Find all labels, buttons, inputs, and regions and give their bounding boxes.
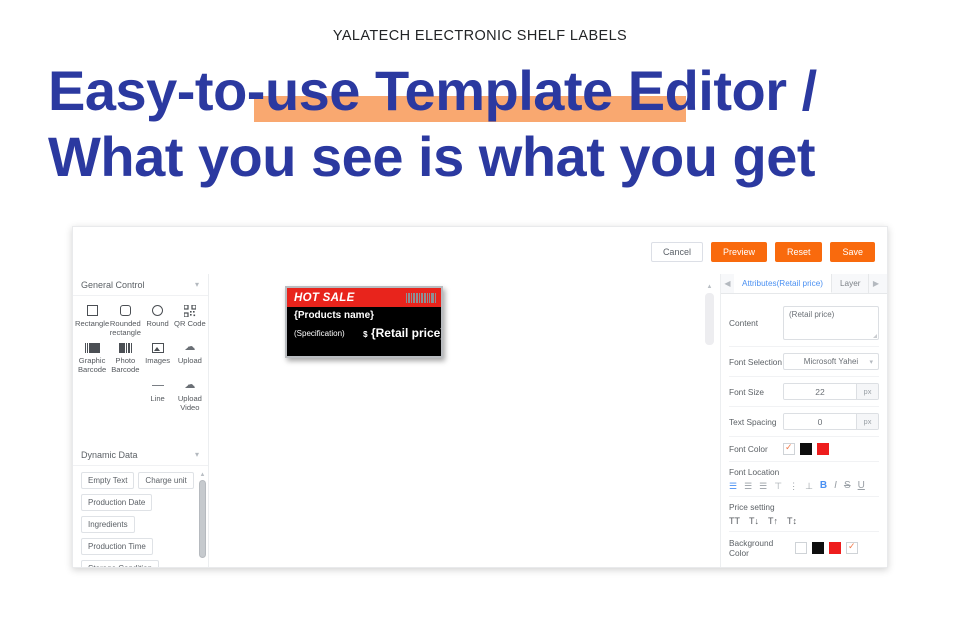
tab-attributes[interactable]: Attributes(Retail price) xyxy=(734,274,832,293)
scrollbar-thumb[interactable] xyxy=(199,480,206,558)
headline-line-1: Easy-to-use Template Editor / xyxy=(48,58,918,124)
strikethrough-icon[interactable]: S xyxy=(844,481,851,491)
attributes-tab-bar: ◀ Attributes(Retail price) Layer ▶ xyxy=(721,274,887,294)
price-setting-toolbar: TT T↓ T↑ T↕ xyxy=(729,516,879,526)
currency-symbol: $ xyxy=(363,330,367,339)
background-color-swatch-white[interactable] xyxy=(795,542,807,554)
background-color-swatch-selected[interactable] xyxy=(846,542,858,554)
scroll-up-icon[interactable]: ▲ xyxy=(199,472,206,478)
dynamic-data-scrollbar[interactable]: ▲ xyxy=(199,472,206,561)
tool-qr-code[interactable]: QR Code xyxy=(174,303,206,337)
text-spacing-label: Text Spacing xyxy=(729,417,783,427)
tool-upload-video[interactable]: ☁ Upload Video xyxy=(174,378,206,412)
reset-button[interactable]: Reset xyxy=(775,242,823,262)
general-control-header[interactable]: General Control ▾ xyxy=(73,274,208,296)
round-icon xyxy=(152,303,163,318)
cancel-button[interactable]: Cancel xyxy=(651,242,703,262)
bold-icon[interactable]: B xyxy=(820,481,827,491)
chip-production-date[interactable]: Production Date xyxy=(81,494,152,511)
scroll-up-icon[interactable]: ▲ xyxy=(705,284,714,291)
font-size-input[interactable]: 22 px xyxy=(783,383,879,400)
template-editor-app: Cancel Preview Reset Save General Contro… xyxy=(72,226,888,568)
chip-production-time[interactable]: Production Time xyxy=(81,538,153,555)
chevron-right-icon[interactable]: ▶ xyxy=(869,274,882,293)
font-selection-label: Font Selection xyxy=(729,357,783,367)
slide-eyebrow: YALATECH ELECTRONIC SHELF LABELS xyxy=(0,28,960,44)
background-color-label: Background Color xyxy=(729,538,795,558)
italic-icon[interactable]: I xyxy=(834,481,837,491)
label-specification[interactable]: (Specification) xyxy=(294,329,345,338)
label-banner: HOT SALE xyxy=(287,288,441,307)
tool-rounded-rectangle[interactable]: Rounded rectangle xyxy=(109,303,141,337)
dynamic-data-header[interactable]: Dynamic Data ▾ xyxy=(73,444,208,466)
font-selection-dropdown[interactable]: Microsoft Yahei ▾ xyxy=(783,353,879,370)
toolbar-button-group: Cancel Preview Reset Save xyxy=(651,242,875,262)
label-retail-price[interactable]: $ {Retail price} xyxy=(363,326,443,340)
font-size-label: Font Size xyxy=(729,387,783,397)
tool-images[interactable]: Images xyxy=(141,340,173,374)
price-field-text: {Retail price} xyxy=(371,326,443,340)
font-selection-value: Microsoft Yahei xyxy=(804,357,858,366)
images-icon xyxy=(152,340,164,355)
headline-line-2: What you see is what you get xyxy=(48,124,918,190)
price-style-tt-icon[interactable]: TT xyxy=(729,516,740,526)
chip-storage-condition[interactable]: Storage Condition xyxy=(81,560,159,567)
left-tools-panel: General Control ▾ Rectangle Rounded rect… xyxy=(73,274,209,567)
barcode-icon xyxy=(406,293,436,303)
content-label: Content xyxy=(729,318,783,328)
dynamic-data-section: Dynamic Data ▾ Empty Text Charge unit Pr… xyxy=(73,444,208,567)
label-preview[interactable]: HOT SALE {Products name} (Specification)… xyxy=(285,286,443,358)
banner-text: HOT SALE xyxy=(294,292,355,304)
upload-icon: ☁ xyxy=(184,340,195,355)
price-style-subscript-icon[interactable]: T↓ xyxy=(749,516,759,526)
dynamic-data-title: Dynamic Data xyxy=(81,450,138,460)
preview-button[interactable]: Preview xyxy=(711,242,767,262)
dynamic-data-chip-list: Empty Text Charge unit Production Date I… xyxy=(73,466,208,567)
label-canvas[interactable]: HOT SALE {Products name} (Specification)… xyxy=(209,274,721,567)
content-textarea[interactable]: (Retail price) xyxy=(783,306,879,340)
text-spacing-row: Text Spacing 0 px xyxy=(729,407,879,437)
text-spacing-unit: px xyxy=(856,414,878,429)
align-right-icon[interactable]: ☰ xyxy=(759,482,767,491)
font-color-swatch-black[interactable] xyxy=(800,443,812,455)
align-left-icon[interactable]: ☰ xyxy=(729,482,737,491)
background-color-swatch-red[interactable] xyxy=(829,542,841,554)
font-color-row: Font Color xyxy=(729,437,879,462)
graphic-barcode-icon xyxy=(85,340,100,355)
rectangle-icon xyxy=(87,303,98,318)
price-setting-section: Price setting TT T↓ T↑ T↕ xyxy=(729,497,879,532)
page-title: Easy-to-use Template Editor / What you s… xyxy=(48,58,918,190)
tab-layer[interactable]: Layer xyxy=(832,274,869,293)
tool-photo-barcode[interactable]: Photo Barcode xyxy=(109,340,141,374)
content-row: Content (Retail price) xyxy=(729,300,879,347)
chevron-down-icon[interactable]: ▾ xyxy=(195,280,199,289)
font-location-toolbar: ☰ ☰ ☰ ⊤ ⋮ ⊥ B I S U xyxy=(729,481,879,491)
chevron-down-icon[interactable]: ▾ xyxy=(195,450,199,459)
background-color-row: Background Color xyxy=(729,532,879,564)
chip-charge-unit[interactable]: Charge unit xyxy=(138,472,193,489)
label-product-name[interactable]: {Products name} xyxy=(294,310,374,321)
tool-line[interactable]: Line xyxy=(141,378,173,412)
price-style-superscript-icon[interactable]: T↑ xyxy=(768,516,778,526)
align-bottom-icon[interactable]: ⊥ xyxy=(805,482,813,491)
align-top-icon[interactable]: ⊤ xyxy=(774,482,782,491)
chevron-left-icon[interactable]: ◀ xyxy=(721,274,734,293)
attributes-form: Content (Retail price) Font Selection Mi… xyxy=(721,294,887,564)
upload-video-icon: ☁ xyxy=(184,378,195,393)
font-size-row: Font Size 22 px xyxy=(729,377,879,407)
rounded-rectangle-icon xyxy=(120,303,131,318)
price-setting-label: Price setting xyxy=(729,502,879,512)
text-spacing-input[interactable]: 0 px xyxy=(783,413,879,430)
attributes-panel: ◀ Attributes(Retail price) Layer ▶ Conte… xyxy=(721,274,887,567)
font-color-swatch-red[interactable] xyxy=(817,443,829,455)
general-control-title: General Control xyxy=(81,280,145,290)
font-color-label: Font Color xyxy=(729,444,783,454)
chip-ingredients[interactable]: Ingredients xyxy=(81,516,135,533)
align-center-icon[interactable]: ☰ xyxy=(744,482,752,491)
tool-round[interactable]: Round xyxy=(141,303,173,337)
font-color-swatch-white[interactable] xyxy=(783,443,795,455)
underline-icon[interactable]: U xyxy=(858,481,865,491)
font-selection-row: Font Selection Microsoft Yahei ▾ xyxy=(729,347,879,377)
font-size-value: 22 xyxy=(784,384,856,399)
text-spacing-value: 0 xyxy=(784,414,856,429)
font-location-section: Font Location ☰ ☰ ☰ ⊤ ⋮ ⊥ B I S U xyxy=(729,462,879,497)
line-icon xyxy=(152,378,164,393)
tool-upload[interactable]: ☁ Upload xyxy=(174,340,206,374)
price-style-mixed-icon[interactable]: T↕ xyxy=(787,516,797,526)
tool-rectangle[interactable]: Rectangle xyxy=(75,303,109,337)
tool-graphic-barcode[interactable]: Graphic Barcode xyxy=(75,340,109,374)
font-size-unit: px xyxy=(856,384,878,399)
font-location-label: Font Location xyxy=(729,467,879,477)
chevron-down-icon: ▾ xyxy=(869,358,873,366)
photo-barcode-icon xyxy=(119,340,133,355)
qr-code-icon xyxy=(184,303,196,318)
align-middle-icon[interactable]: ⋮ xyxy=(789,482,798,491)
canvas-scrollbar[interactable]: ▲ xyxy=(705,284,714,559)
background-color-swatch-black[interactable] xyxy=(812,542,824,554)
scrollbar-thumb[interactable] xyxy=(705,293,714,345)
save-button[interactable]: Save xyxy=(830,242,875,262)
chip-empty-text[interactable]: Empty Text xyxy=(81,472,134,489)
editor-toolbar: Cancel Preview Reset Save xyxy=(73,227,887,274)
general-control-tool-grid: Rectangle Rounded rectangle Round xyxy=(73,296,208,414)
